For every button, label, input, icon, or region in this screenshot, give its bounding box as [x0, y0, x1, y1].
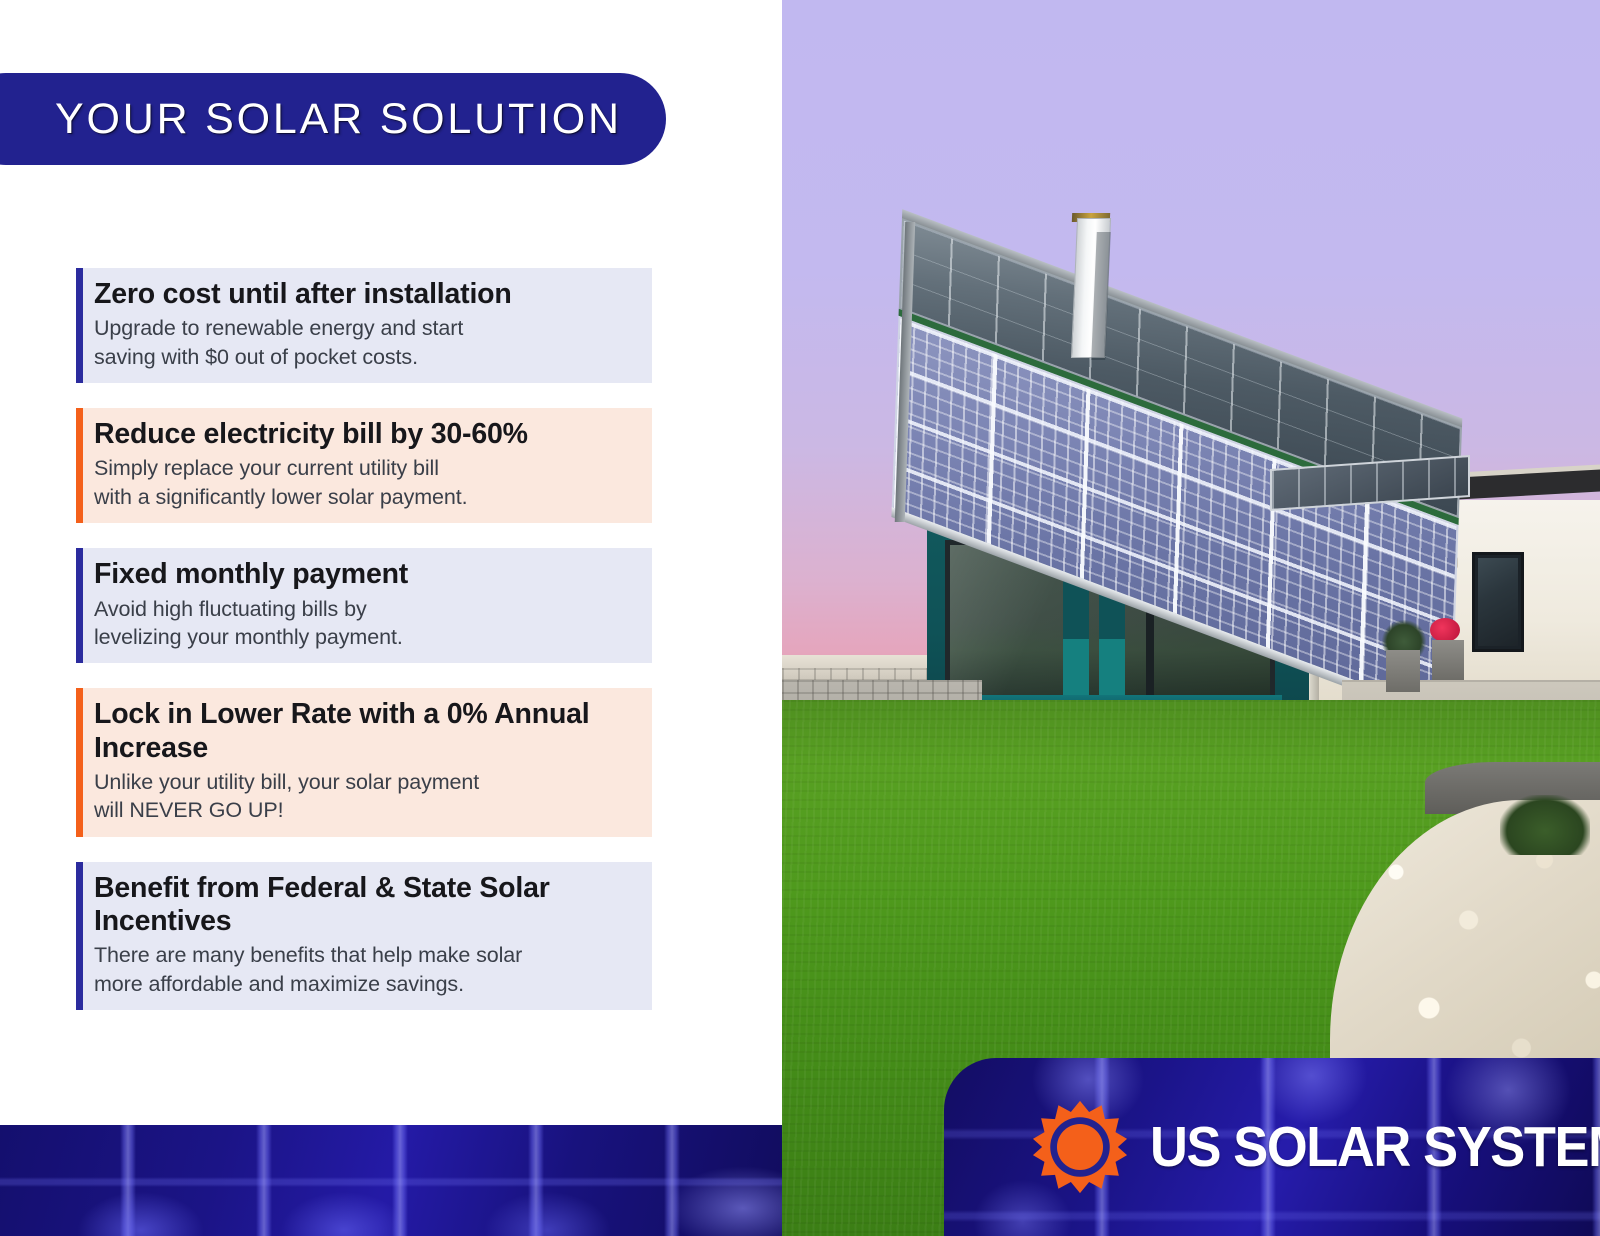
feature-item-5: Benefit from Federal & State Solar Incen…	[76, 862, 652, 1010]
hero-photo: US SOLAR SYSTEM	[782, 0, 1600, 1236]
solar-panel-strip	[0, 1125, 782, 1236]
brand-logo-bar: US SOLAR SYSTEM	[944, 1058, 1600, 1236]
left-content-panel: YOUR SOLAR SOLUTION Zero cost until afte…	[0, 0, 782, 1236]
window-pane	[1478, 558, 1518, 646]
feature-heading: Benefit from Federal & State Solar Incen…	[94, 872, 638, 939]
feature-body: Upgrade to renewable energy and start sa…	[94, 314, 638, 371]
feature-item-1: Zero cost until after installation Upgra…	[76, 268, 652, 383]
feature-heading: Lock in Lower Rate with a 0% Annual Incr…	[94, 698, 638, 765]
poster-canvas: US SOLAR SYSTEM YOUR SOLAR SOLUTION Zero…	[0, 0, 1600, 1236]
feature-list: Zero cost until after installation Upgra…	[76, 268, 652, 1035]
sun-icon	[1032, 1099, 1128, 1195]
feature-accent-bar	[76, 862, 83, 1010]
feature-body: There are many benefits that help make s…	[94, 941, 638, 998]
feature-accent-bar	[76, 688, 83, 836]
feature-body: Unlike your utility bill, your solar pay…	[94, 768, 638, 825]
red-flowers	[1430, 618, 1460, 642]
planter-pot	[1432, 640, 1464, 680]
feature-heading: Reduce electricity bill by 30-60%	[94, 418, 638, 451]
feature-heading: Fixed monthly payment	[94, 558, 638, 591]
feature-heading: Zero cost until after installation	[94, 278, 638, 311]
feature-body: Simply replace your current utility bill…	[94, 454, 638, 511]
brand-name: US SOLAR SYSTEM	[1150, 1114, 1600, 1180]
feature-body: Avoid high fluctuating bills by levelizi…	[94, 595, 638, 652]
wing-window-right	[1472, 552, 1524, 652]
planter-pot	[1386, 650, 1420, 692]
feature-item-3: Fixed monthly payment Avoid high fluctua…	[76, 548, 652, 663]
feature-item-4: Lock in Lower Rate with a 0% Annual Incr…	[76, 688, 652, 836]
feature-accent-bar	[76, 548, 83, 663]
shrub	[1500, 795, 1590, 855]
feature-accent-bar	[76, 268, 83, 383]
page-title: YOUR SOLAR SOLUTION	[55, 95, 622, 144]
page-title-banner: YOUR SOLAR SOLUTION	[0, 73, 666, 165]
feature-accent-bar	[76, 408, 83, 523]
feature-item-2: Reduce electricity bill by 30-60% Simply…	[76, 408, 652, 523]
